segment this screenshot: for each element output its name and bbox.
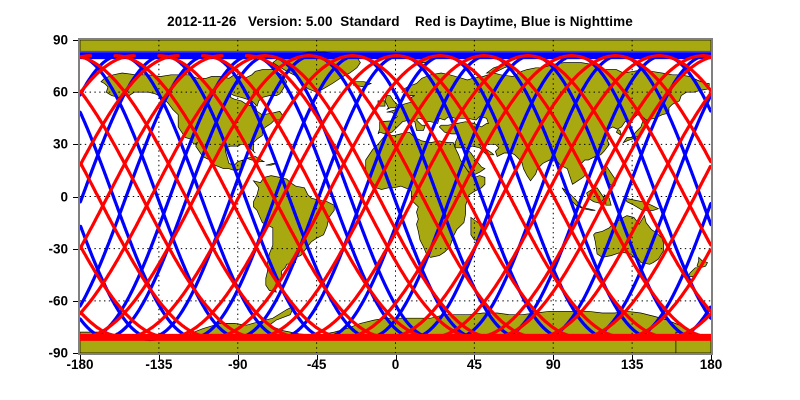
y-tick-label: -60 — [22, 293, 68, 308]
plot-area — [78, 38, 713, 355]
y-tick-mark — [73, 301, 78, 302]
x-tick-mark — [711, 355, 712, 360]
daytime-turning-band — [80, 334, 711, 341]
satellite-ground-track-figure: 2012-11-26 Version: 5.00 Standard Red is… — [0, 0, 800, 400]
x-tick-mark — [553, 355, 554, 360]
ground-track-plot — [80, 40, 711, 353]
x-tick-mark — [238, 355, 239, 360]
x-tick-mark — [80, 355, 81, 360]
x-tick-mark — [632, 355, 633, 360]
y-tick-mark — [73, 40, 78, 41]
y-tick-label: 30 — [22, 137, 68, 152]
y-tick-mark — [73, 197, 78, 198]
x-tick-mark — [317, 355, 318, 360]
x-tick-mark — [474, 355, 475, 360]
y-tick-mark — [73, 144, 78, 145]
y-tick-mark — [73, 92, 78, 93]
y-tick-mark — [73, 249, 78, 250]
x-tick-mark — [396, 355, 397, 360]
y-tick-label: 90 — [22, 33, 68, 48]
y-tick-label: 0 — [22, 189, 68, 204]
y-tick-label: -30 — [22, 241, 68, 256]
y-tick-mark — [73, 353, 78, 354]
y-tick-label: 60 — [22, 85, 68, 100]
page-title: 2012-11-26 Version: 5.00 Standard Red is… — [0, 14, 800, 29]
x-tick-mark — [159, 355, 160, 360]
